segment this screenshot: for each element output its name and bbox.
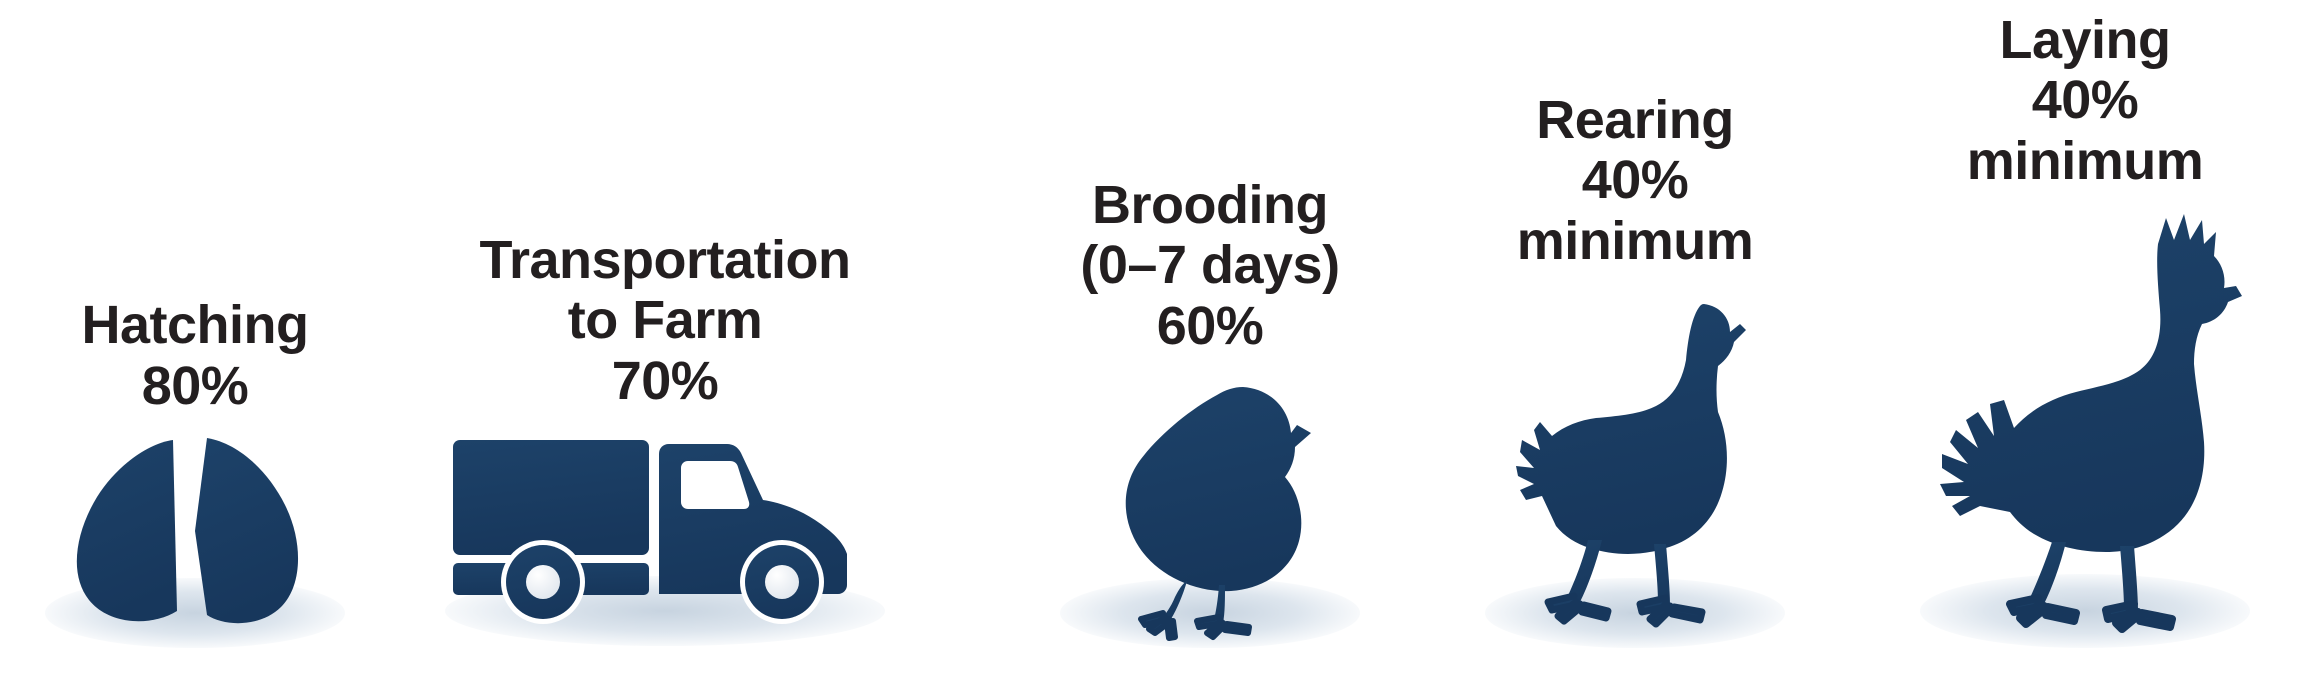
laying-hen-icon [1920,210,2250,630]
stage-laying-icon-wrap [1920,205,2250,630]
stage-hatching-icon-wrap [45,430,345,630]
stage-rearing-icon-wrap [1490,285,1780,630]
stage-brooding-label: Brooding (0–7 days) 60% [1080,175,1339,356]
stage-brooding-icon-wrap [1083,370,1338,630]
stage-transport-icon-wrap [445,425,885,630]
stage-rearing-label: Rearing 40% minimum [1517,90,1754,271]
stage-hatching: Hatching 80% [10,295,380,690]
stage-hatching-label: Hatching 80% [81,295,308,416]
pullet-icon [1490,290,1780,630]
stage-transport-label: Transportation to Farm 70% [479,230,850,411]
stage-laying-label: Laying 40% minimum [1967,10,2204,191]
stage-transport: Transportation to Farm 70% [345,230,985,690]
stage-brooding: Brooding (0–7 days) 60% [1010,175,1410,690]
delivery-truck-icon [445,430,885,630]
cracked-egg-icon [45,435,345,630]
stage-laying: Laying 40% minimum [1860,10,2310,690]
chick-icon [1083,375,1338,630]
poultry-lifecycle-infographic: Hatching 80% Transportation to Farm 70% [0,0,2317,690]
stage-rearing: Rearing 40% minimum [1420,90,1850,690]
